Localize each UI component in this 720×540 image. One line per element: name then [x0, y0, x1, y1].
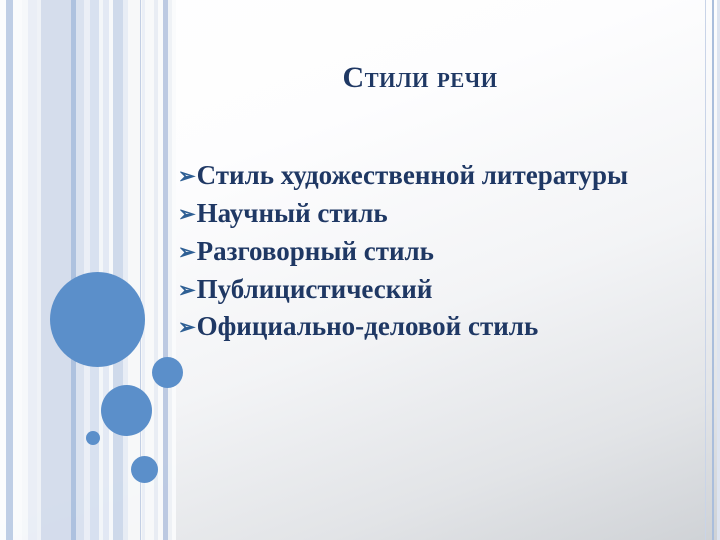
decorative-stripe — [90, 0, 99, 540]
decorative-hairline — [140, 0, 141, 540]
slide-title-block: Стили речи — [150, 60, 690, 96]
decorative-stripe — [103, 0, 109, 540]
decorative-stripe — [13, 0, 22, 540]
list-item: ➢Официально-деловой стиль — [178, 311, 648, 343]
decorative-stripe — [76, 0, 84, 540]
decorative-stripe — [142, 0, 145, 540]
decorative-stripe — [123, 0, 128, 540]
slide-body-list: ➢Стиль художественной литературы➢Научный… — [178, 160, 648, 349]
arrow-bullet-icon: ➢ — [178, 161, 196, 191]
arrow-bullet-icon: ➢ — [178, 199, 196, 229]
decorative-stripe — [22, 0, 28, 540]
list-item-label: Разговорный стиль — [197, 236, 648, 268]
decorative-hairline — [705, 0, 706, 540]
list-item-label: Публицистический — [197, 274, 648, 306]
list-item: ➢Публицистический — [178, 274, 648, 306]
decorative-circle-big — [50, 272, 145, 367]
decorative-circle-medium — [101, 385, 152, 436]
page-title: Стили речи — [150, 60, 690, 96]
decorative-stripe — [71, 0, 76, 540]
arrow-bullet-icon: ➢ — [178, 275, 196, 305]
decorative-stripe — [128, 0, 142, 540]
decorative-stripe — [84, 0, 90, 540]
decorative-stripe — [109, 0, 113, 540]
list-item: ➢Научный стиль — [178, 198, 648, 230]
list-item: ➢Разговорный стиль — [178, 236, 648, 268]
decorative-stripe — [28, 0, 37, 540]
decorative-hairline — [712, 0, 714, 540]
decorative-stripe — [37, 0, 41, 540]
arrow-bullet-icon: ➢ — [178, 312, 196, 342]
decorative-circle-small-low — [131, 456, 158, 483]
list-item-label: Стиль художественной литературы — [197, 160, 648, 192]
decorative-circle-tiny — [86, 431, 100, 445]
decorative-stripe — [41, 0, 71, 540]
decorative-stripe — [99, 0, 103, 540]
list-item-label: Научный стиль — [197, 198, 648, 230]
decorative-stripe — [6, 0, 13, 540]
arrow-bullet-icon: ➢ — [178, 237, 196, 267]
decorative-stripe — [113, 0, 123, 540]
presentation-slide: Стили речи ➢Стиль художественной литерат… — [0, 0, 720, 540]
decorative-circle-right-mid — [152, 357, 183, 388]
list-item-label: Официально-деловой стиль — [197, 311, 648, 343]
list-item: ➢Стиль художественной литературы — [178, 160, 648, 192]
decorative-stripe — [0, 0, 6, 540]
